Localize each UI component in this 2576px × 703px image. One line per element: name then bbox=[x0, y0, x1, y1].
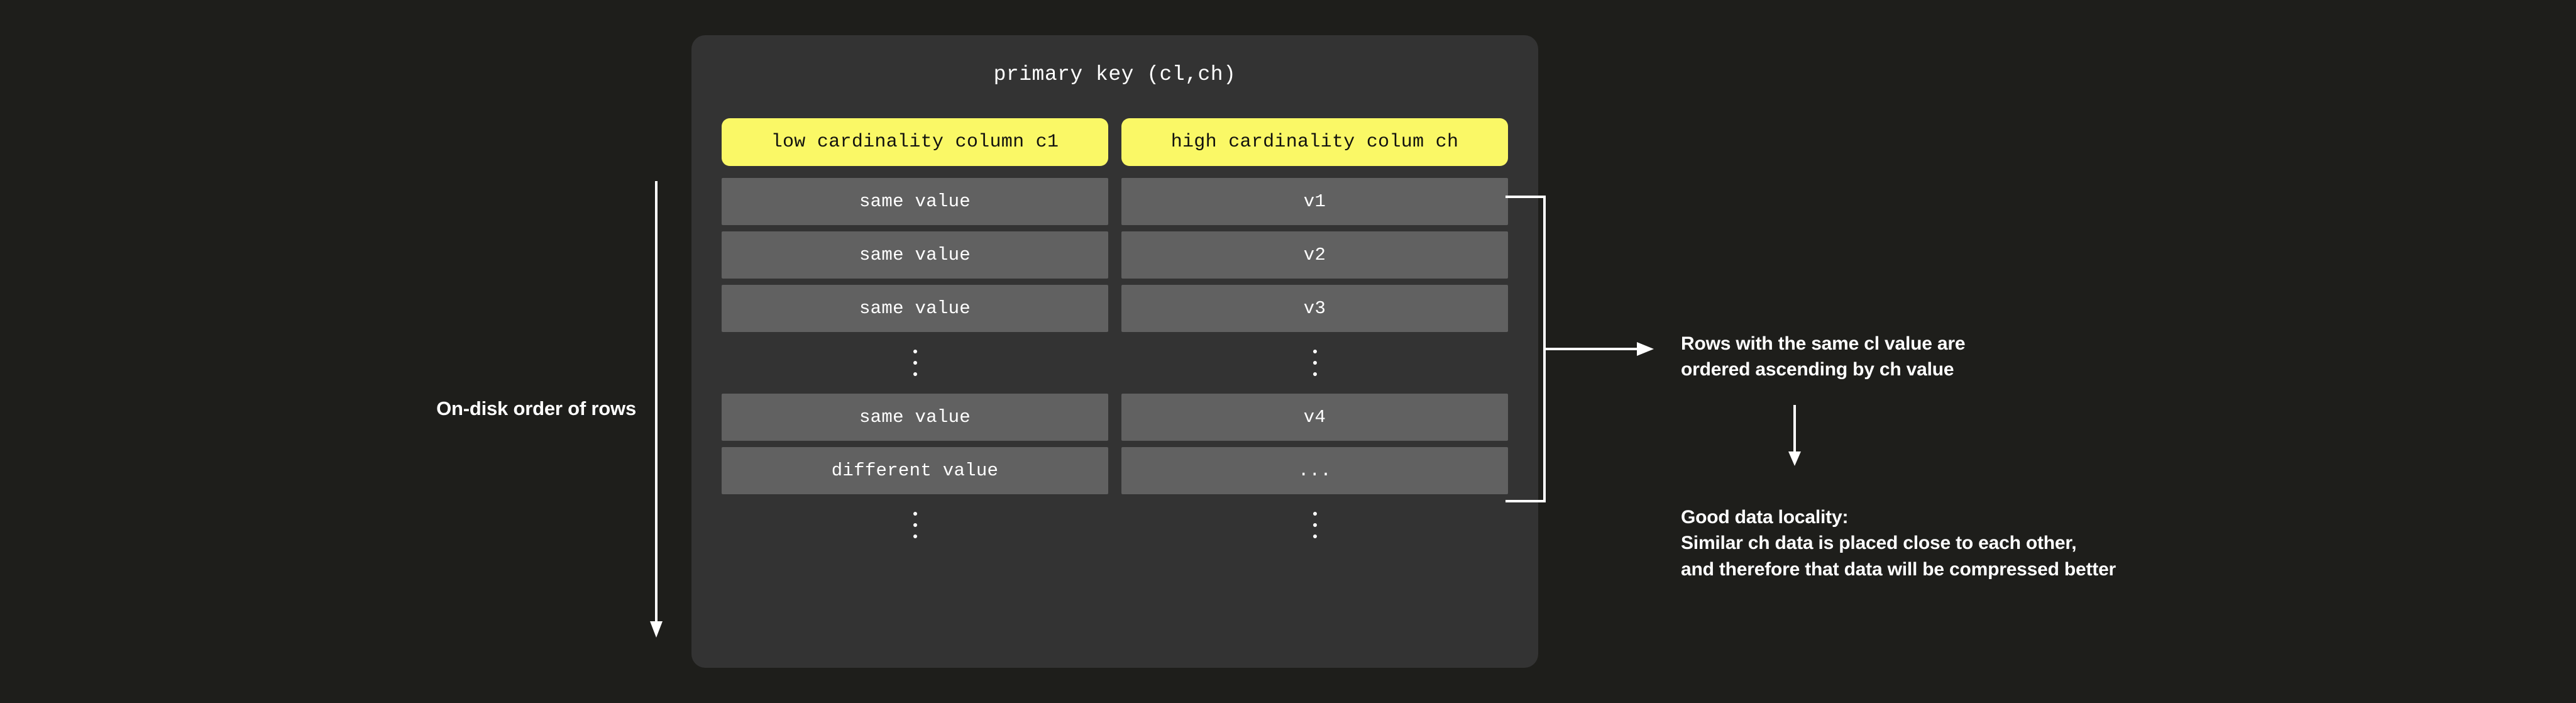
panel-title: primary key (cl,ch) bbox=[691, 63, 1538, 86]
vertical-ellipsis-icon bbox=[1121, 338, 1508, 387]
table-row: different value ... bbox=[722, 447, 1508, 494]
table-row: same value v1 bbox=[722, 178, 1508, 225]
cell-c1: same value bbox=[722, 231, 1108, 279]
on-disk-order-arrow-down-icon bbox=[640, 181, 673, 639]
cell-c1: same value bbox=[722, 178, 1108, 225]
cell-ch: v3 bbox=[1121, 285, 1508, 332]
table-row: same value v3 bbox=[722, 285, 1508, 332]
vertical-ellipsis-icon bbox=[722, 501, 1108, 550]
diagram-canvas: On-disk order of rows primary key (cl,ch… bbox=[0, 0, 2576, 703]
column-header-c1[interactable]: low cardinality column c1 bbox=[722, 118, 1108, 166]
vertical-ellipsis-icon bbox=[1121, 501, 1508, 550]
bracket-arrow-right-icon bbox=[1505, 195, 1663, 503]
ellipsis-row bbox=[722, 338, 1508, 387]
locality-arrow-down-icon bbox=[1780, 405, 1809, 468]
table-row: same value v4 bbox=[722, 394, 1508, 441]
cell-c1: different value bbox=[722, 447, 1108, 494]
annotation-good-data-locality: Good data locality: Similar ch data is p… bbox=[1681, 504, 2116, 582]
column-header-row: low cardinality column c1 high cardinali… bbox=[722, 118, 1508, 166]
on-disk-order-label: On-disk order of rows bbox=[410, 397, 636, 420]
cell-c1: same value bbox=[722, 394, 1108, 441]
cell-ch: ... bbox=[1121, 447, 1508, 494]
annotation-ordered-ascending: Rows with the same cl value are ordered … bbox=[1681, 331, 1965, 383]
cell-c1: same value bbox=[722, 285, 1108, 332]
cell-ch: v1 bbox=[1121, 178, 1508, 225]
cell-ch: v4 bbox=[1121, 394, 1508, 441]
vertical-ellipsis-icon bbox=[722, 338, 1108, 387]
table-row: same value v2 bbox=[722, 231, 1508, 279]
row-grid: low cardinality column c1 high cardinali… bbox=[722, 118, 1508, 556]
ellipsis-row bbox=[722, 501, 1508, 550]
primary-key-panel: primary key (cl,ch) low cardinality colu… bbox=[691, 35, 1538, 668]
cell-ch: v2 bbox=[1121, 231, 1508, 279]
column-header-ch[interactable]: high cardinality colum ch bbox=[1121, 118, 1508, 166]
